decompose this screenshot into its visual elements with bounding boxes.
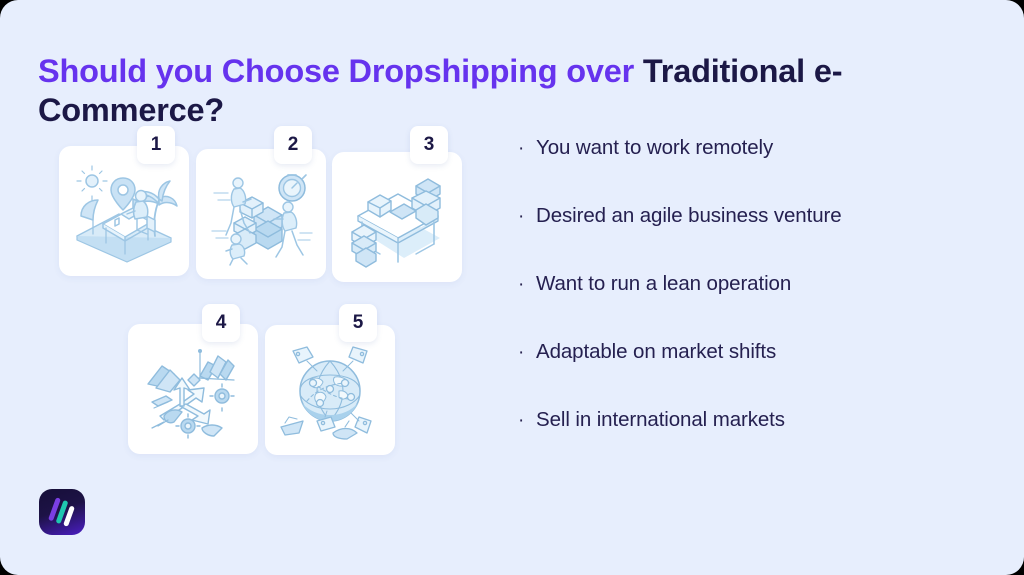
list-item-label: Desired an agile business venture [536,204,842,229]
list-item-label: Adaptable on market shifts [536,340,776,365]
list-item: · Want to run a lean operation [518,272,988,340]
remote-work-beach-desk-icon [67,154,181,268]
illustration-card-4 [128,324,258,454]
minimal-desk-boxes-icon [340,160,454,274]
list-item-label: You want to work remotely [536,136,773,161]
branching-arrows-charts-gears-icon [136,332,250,446]
list-item: · Sell in international markets [518,408,988,476]
card-number-badge-2: 2 [274,126,312,164]
benefits-list: · You want to work remotely · Desired an… [518,136,988,476]
people-moving-boxes-stopwatch-icon [204,157,318,271]
card-number-badge-1: 1 [137,126,175,164]
illustration-card-2 [196,149,326,279]
card-number-badge-5: 5 [339,304,377,342]
bullet-marker: · [518,275,536,294]
list-item: · Desired an agile business venture [518,204,988,272]
list-item-label: Want to run a lean operation [536,272,791,297]
card-number-badge-4: 4 [202,304,240,342]
illustration-card-5 [265,325,395,455]
globe-shipping-routes-price-tags-icon [273,333,387,447]
card-number-badge-3: 3 [410,126,448,164]
bullet-marker: · [518,411,536,430]
three-slanted-bars-logo [39,489,85,535]
list-item: · You want to work remotely [518,136,988,204]
list-item-label: Sell in international markets [536,408,785,433]
illustration-card-1 [59,146,189,276]
illustration-card-3 [332,152,462,282]
bullet-marker: · [518,139,536,158]
bullet-marker: · [518,343,536,362]
bullet-marker: · [518,207,536,226]
list-item: · Adaptable on market shifts [518,340,988,408]
slide-canvas: Should you Choose Dropshipping over Trad… [0,0,1024,575]
